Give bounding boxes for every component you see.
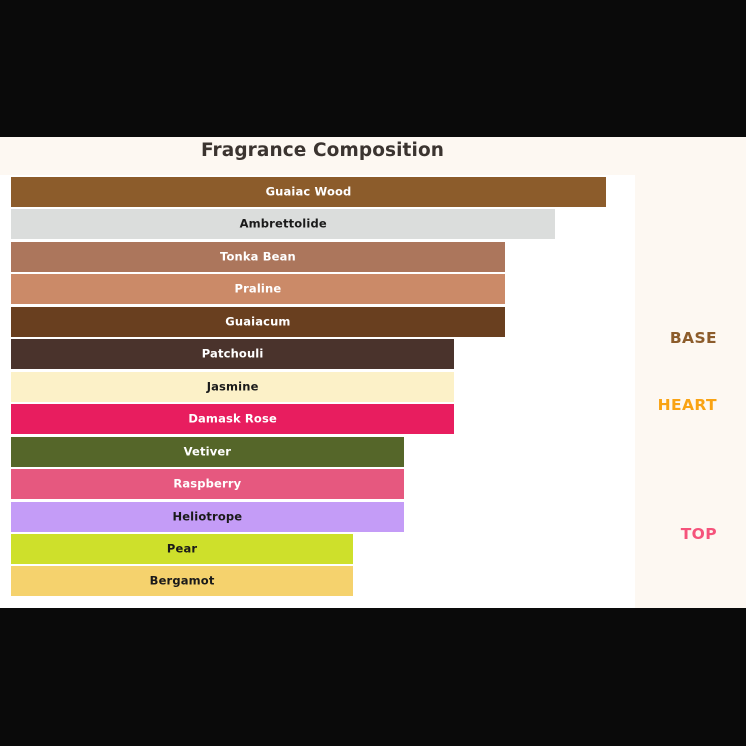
bar-label: Raspberry xyxy=(11,477,404,491)
bar-vetiver[interactable]: Vetiver xyxy=(11,437,404,467)
bar-pear[interactable]: Pear xyxy=(11,534,353,564)
bar-ambrettolide[interactable]: Ambrettolide xyxy=(11,209,555,239)
bar-guaiacum[interactable]: Guaiacum xyxy=(11,307,505,337)
bar-label: Bergamot xyxy=(11,574,353,588)
bar-label: Guaiac Wood xyxy=(11,185,606,199)
bar-heliotrope[interactable]: Heliotrope xyxy=(11,502,404,532)
bar-label: Jasmine xyxy=(11,379,454,393)
plot-area: Guaiac WoodAmbrettolideTonka BeanPraline… xyxy=(0,175,635,608)
bar-patchouli[interactable]: Patchouli xyxy=(11,339,454,369)
bar-label: Praline xyxy=(11,282,505,296)
tier-label-heart: HEART xyxy=(658,396,717,414)
tier-label-base: BASE xyxy=(670,329,717,347)
bar-guaiac-wood[interactable]: Guaiac Wood xyxy=(11,177,606,207)
bar-label: Guaiacum xyxy=(11,314,505,328)
bar-label: Patchouli xyxy=(11,347,454,361)
bar-label: Ambrettolide xyxy=(11,217,555,231)
bar-label: Vetiver xyxy=(11,444,404,458)
chart-figure: Fragrance Composition Guaiac WoodAmbrett… xyxy=(0,137,746,608)
bar-jasmine[interactable]: Jasmine xyxy=(11,372,454,402)
tier-label-top: TOP xyxy=(681,525,717,543)
bar-tonka-bean[interactable]: Tonka Bean xyxy=(11,242,505,272)
bar-label: Damask Rose xyxy=(11,412,454,426)
bar-damask-rose[interactable]: Damask Rose xyxy=(11,404,454,434)
chart-title: Fragrance Composition xyxy=(0,140,645,161)
bar-raspberry[interactable]: Raspberry xyxy=(11,469,404,499)
bar-label: Heliotrope xyxy=(11,509,404,523)
bar-bergamot[interactable]: Bergamot xyxy=(11,566,353,596)
bar-label: Tonka Bean xyxy=(11,249,505,263)
bar-label: Pear xyxy=(11,541,353,555)
bar-praline[interactable]: Praline xyxy=(11,274,505,304)
